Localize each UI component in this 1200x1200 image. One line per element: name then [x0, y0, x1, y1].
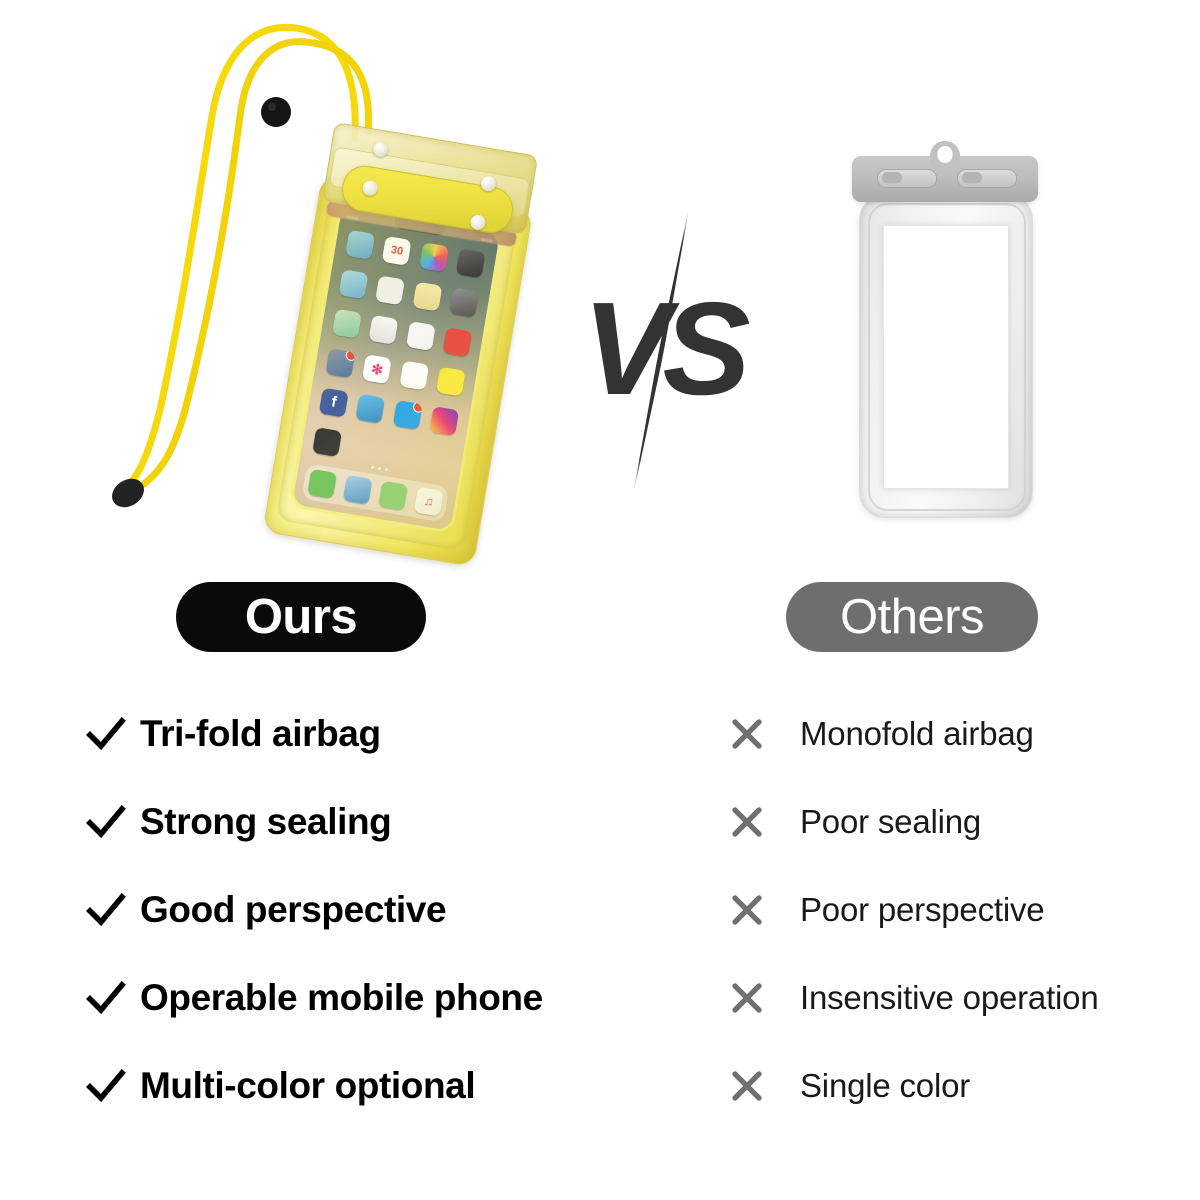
app-icon-photos: [419, 242, 449, 272]
ours-feature-list: Tri-fold airbag Strong sealing Good pers…: [86, 690, 666, 1130]
feature-label: Poor perspective: [800, 891, 1044, 929]
versus-graphic: VS: [575, 205, 750, 495]
cross-icon: [730, 805, 764, 839]
products-area: 30 ✻: [0, 0, 1200, 570]
ours-product-image: 30 ✻: [100, 10, 570, 570]
check-icon: [86, 978, 126, 1018]
gray-pouch-body: [859, 194, 1033, 518]
list-item: Good perspective: [86, 866, 666, 954]
check-icon: [86, 1066, 126, 1106]
gray-pouch-clear-window: [883, 225, 1009, 489]
app-icon-weather: [339, 269, 369, 299]
feature-label: Multi-color optional: [140, 1065, 475, 1107]
check-icon: [86, 890, 126, 930]
yellow-pouch: 30 ✻: [263, 115, 541, 564]
list-item: Insensitive operation: [730, 954, 1190, 1042]
feature-label: Single color: [800, 1067, 970, 1105]
list-item: Strong sealing: [86, 778, 666, 866]
app-icon-appstore: [312, 427, 342, 457]
app-icon-facebook: f: [319, 388, 349, 418]
app-icon-health: [399, 360, 429, 390]
list-item: Monofold airbag: [730, 690, 1190, 778]
feature-label: Good perspective: [140, 889, 446, 931]
cross-icon: [730, 717, 764, 751]
clamp-slide-lock: [877, 169, 937, 188]
app-icon-telegram: [356, 394, 386, 424]
ours-badge-label: Ours: [245, 589, 357, 645]
app-icon-blank: [423, 446, 453, 476]
app-icon-instagram: [429, 406, 459, 436]
feature-label: Insensitive operation: [800, 979, 1099, 1017]
others-product-image: [845, 138, 1045, 523]
app-icon-twitter: [392, 400, 422, 430]
app-icon-clock: [375, 275, 405, 305]
ours-badge: Ours: [176, 582, 426, 652]
app-icon-maps: [332, 309, 362, 339]
app-icon-blank: [386, 439, 416, 469]
cross-icon: [730, 1069, 764, 1103]
app-icon-youtube: [442, 327, 472, 357]
app-icon-podcast: [325, 348, 355, 378]
others-badge-label: Others: [840, 589, 984, 645]
list-item: Multi-color optional: [86, 1042, 666, 1130]
list-item: Poor perspective: [730, 866, 1190, 954]
app-icon-wallet: [369, 315, 399, 345]
check-icon: [86, 714, 126, 754]
app-icon-settings: [449, 288, 479, 318]
hang-hole-icon: [930, 141, 960, 169]
others-feature-list: Monofold airbag Poor sealing Poor perspe…: [730, 690, 1190, 1130]
app-icon-camera: [456, 248, 486, 278]
app-icon-calendar: 30: [382, 236, 412, 266]
dock-icon-music: ♫: [414, 487, 444, 517]
dock-icon-safari: [343, 475, 373, 505]
feature-label: Monofold airbag: [800, 715, 1034, 753]
app-icon-snapchat: [436, 367, 466, 397]
dock-icon-messages: [378, 481, 408, 511]
list-item: Tri-fold airbag: [86, 690, 666, 778]
list-item: Poor sealing: [730, 778, 1190, 866]
dock-icon-phone: [307, 469, 337, 499]
comparison-poster: 30 ✻: [0, 0, 1200, 1200]
others-badge: Others: [786, 582, 1038, 652]
clamp-slide-lock: [957, 169, 1017, 188]
cross-icon: [730, 981, 764, 1015]
app-icon-blank: [349, 433, 379, 463]
list-item: Single color: [730, 1042, 1190, 1130]
feature-label: Strong sealing: [140, 801, 391, 843]
app-icon-flower: ✻: [362, 354, 392, 384]
app-grid: 30 ✻: [309, 229, 488, 483]
feature-label: Tri-fold airbag: [140, 713, 381, 755]
app-icon-reminders: [406, 321, 436, 351]
app-icon-notes: [412, 282, 442, 312]
list-item: Operable mobile phone: [86, 954, 666, 1042]
feature-label: Poor sealing: [800, 803, 981, 841]
cross-icon: [730, 893, 764, 927]
check-icon: [86, 802, 126, 842]
app-icon: [345, 230, 375, 260]
feature-label: Operable mobile phone: [140, 977, 543, 1019]
